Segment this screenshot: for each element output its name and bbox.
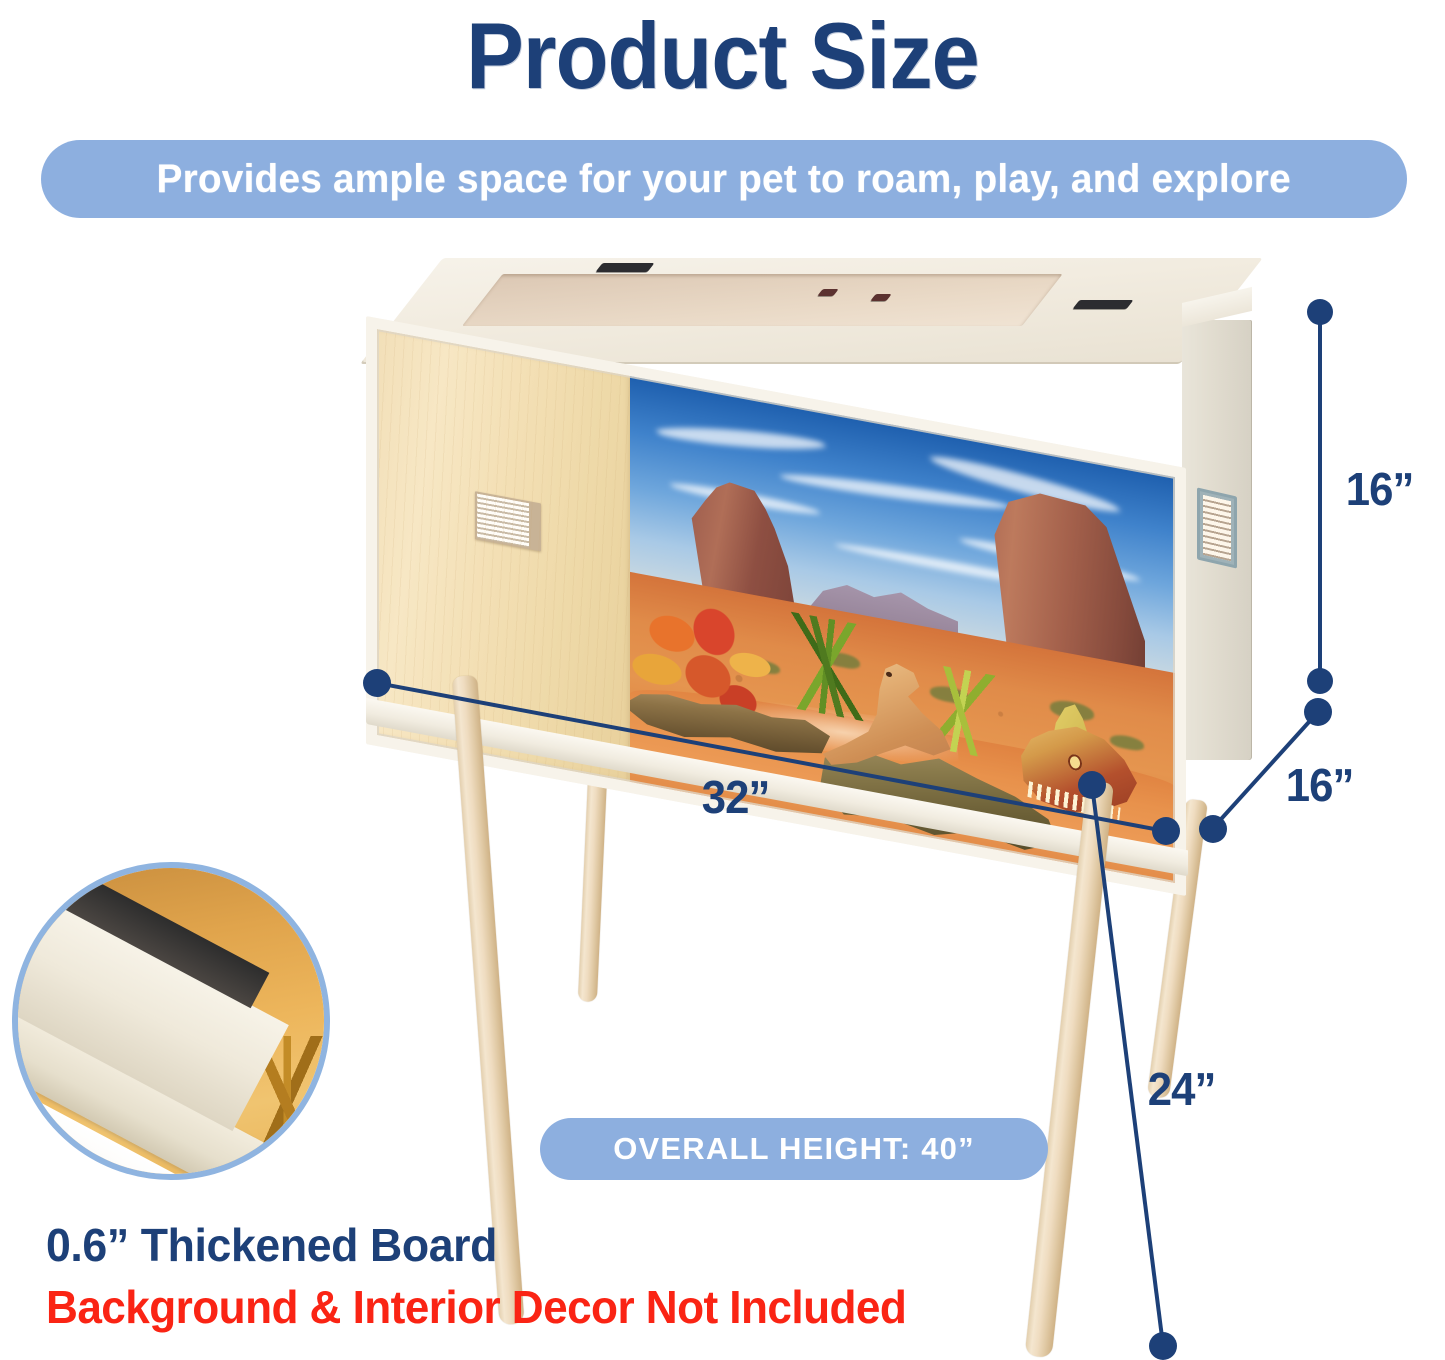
terrarium-cabinet: [352, 258, 1252, 778]
cabinet-top-screen-panel: [462, 274, 1063, 326]
vent-left-slats: [477, 494, 529, 548]
disclaimer-label: Background & Interior Decor Not Included: [46, 1280, 906, 1334]
vent-left-icon: [475, 491, 541, 551]
vent-right-icon: [1197, 487, 1237, 568]
overall-height-badge: OVERALL HEIGHT: 40”: [540, 1118, 1048, 1180]
fern-plant: [780, 610, 876, 724]
hinge-right-icon: [1072, 300, 1133, 309]
vent-right-slats: [1203, 495, 1231, 561]
thickened-board-label: 0.6” Thickened Board: [46, 1218, 497, 1272]
hinge-left-icon: [595, 263, 654, 272]
cabinet-front-face: [366, 316, 1186, 896]
board-thickness-detail-circle: [12, 862, 330, 1180]
overall-height-text: OVERALL HEIGHT: 40”: [613, 1131, 975, 1167]
detail-circle-image: [18, 868, 324, 1174]
